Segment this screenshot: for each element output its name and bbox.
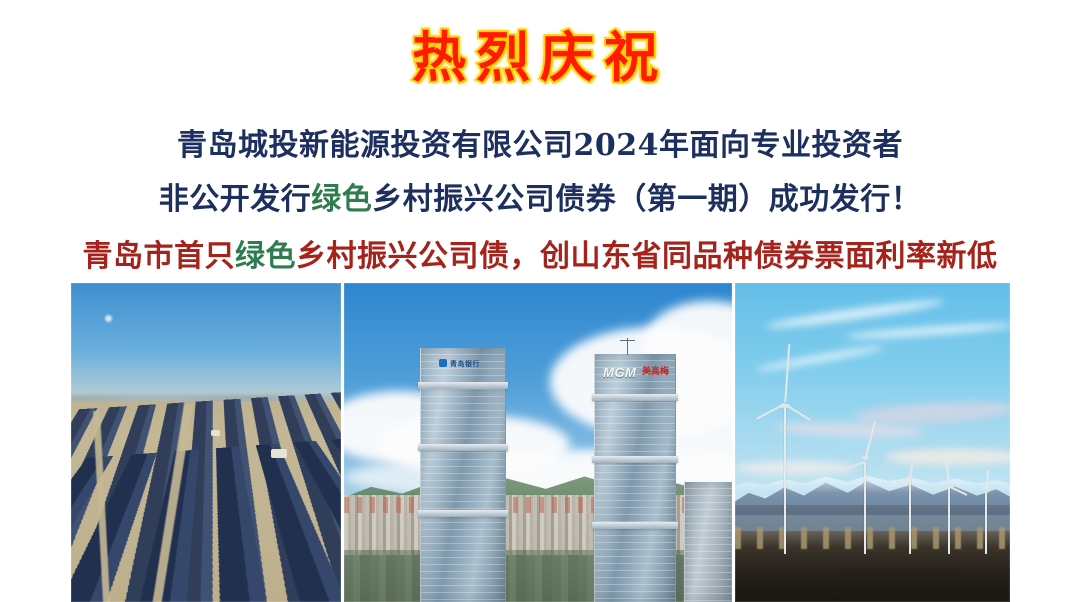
tower-setback-band [418,382,508,389]
wind-turbine [941,468,957,554]
wind-turbine [901,458,919,554]
announcement-line-2-part1: 非公开发行 [159,182,312,217]
turbine-mast [864,462,866,554]
solar-moon [105,315,112,322]
tower-left-sign-text: 青岛银行 [450,361,480,368]
photo-city-towers: 青岛银行 MGM 美高梅 [344,283,732,602]
announcement-line-1: 青岛城投新能源投资有限公司2024年面向专业投资者 [0,120,1080,164]
tower-setback-band [592,522,678,529]
announcement-line-2-part2: 乡村振兴公司债券（第一期）成功发行！ [372,182,921,217]
turbine-mast [909,478,911,554]
turbine-mast [948,486,950,554]
bank-logo-icon [439,359,447,367]
photo-strip: 青岛银行 MGM 美高梅 [71,283,1010,602]
tower-background [684,482,732,602]
photo-wind-farm [735,283,1010,602]
announcement-line-2: 非公开发行绿色乡村振兴公司债券（第一期）成功发行！ [0,174,1080,218]
tower-setback-band [592,394,678,401]
solar-service-vehicle [271,449,287,458]
tower-left: 青岛银行 [420,348,506,602]
rooftop-mast-icon [627,338,628,355]
announcement-line-3: 青岛市首只绿色乡村振兴公司债，创山东省同品种债券票面利率新低 [0,231,1080,275]
announcement-line-3-part2: 乡村振兴公司债，创山东省同品种债券票面利率新低 [296,239,998,274]
announcement-line-3-highlight: 绿色 [235,239,296,274]
announcement-line-1-text: 青岛城投新能源投资有限公司2024年面向专业投资者 [177,128,903,163]
photo-solar-farm [71,283,341,602]
solar-service-vehicle [211,430,220,436]
tower-right-signage: MGM [603,366,636,379]
tower-floor-lines [595,354,675,602]
page-title: 热烈庆祝 [0,27,1080,87]
wind-turbine [979,476,993,554]
tower-right-signage-cn: 美高梅 [642,367,669,376]
wind-turbine [773,386,797,554]
tower-setback-band [418,510,508,517]
announcement-line-2-highlight: 绿色 [311,182,372,217]
tower-setback-band [418,444,508,451]
announcement-line-3-part1: 青岛市首只 [83,239,236,274]
celebration-poster: 热烈庆祝 青岛城投新能源投资有限公司2024年面向专业投资者 非公开发行绿色乡村… [0,0,1080,602]
wind-turbine [855,434,875,554]
tower-setback-band [592,456,678,463]
tower-right: MGM 美高梅 [594,354,676,602]
turbine-mast [784,404,786,554]
tower-left-signage: 青岛银行 [439,359,480,368]
turbine-nacelle [984,490,989,493]
tower-floor-lines [685,482,732,602]
turbine-mast [985,492,987,554]
solar-sky [71,283,341,404]
